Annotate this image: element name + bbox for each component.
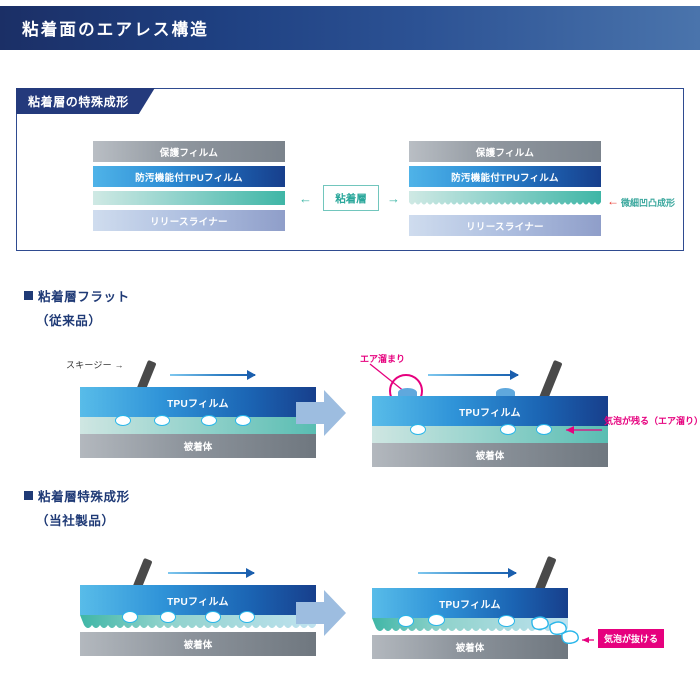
air-bubble <box>398 615 414 627</box>
air-bubble <box>235 415 251 426</box>
air-bubble <box>239 611 255 623</box>
section-special-subheading: （当社製品） <box>36 510 115 529</box>
process-arrow-icon <box>296 590 346 636</box>
layer-protect-film: 保護フィルム <box>93 141 285 162</box>
bullet-square-icon <box>24 291 33 300</box>
layer-adhesive-flat <box>93 191 285 205</box>
escaping-bubbles-icon <box>520 606 600 656</box>
layer-adhesive-textured <box>409 191 601 210</box>
process-arrow-icon <box>296 390 346 436</box>
red-arrow-icon: ← <box>607 195 619 207</box>
layer-protect-film: 保護フィルム <box>409 141 601 162</box>
panel-special-forming: 粘着層の特殊成形 保護フィルム 防汚機能付TPUフィルム リリースライナー ← … <box>16 88 684 251</box>
tpu-film-band: TPUフィルム <box>80 585 316 615</box>
layer-group-textured: TPUフィルム 被着体 <box>80 585 316 656</box>
air-bubble <box>536 424 552 435</box>
flow-arrow-icon <box>168 572 254 574</box>
section-special-heading-text: 粘着層特殊成形 <box>38 486 130 505</box>
air-bubble <box>201 415 217 426</box>
layer-stack-flat: 保護フィルム 防汚機能付TPUフィルム リリースライナー <box>93 141 285 235</box>
air-bubble <box>498 615 515 627</box>
flow-arrow-icon <box>170 374 255 376</box>
arrow-left-icon: ← <box>299 192 312 205</box>
page-root: 粘着面のエアレス構造 粘着層の特殊成形 保護フィルム 防汚機能付TPUフィルム … <box>0 0 700 700</box>
air-bubble <box>122 611 138 623</box>
substrate-band: 被着体 <box>80 434 316 458</box>
air-bubble <box>205 611 221 623</box>
air-bubble <box>160 611 176 623</box>
arrow-right-icon: → <box>387 192 400 205</box>
bubbles-escape-label: 気泡が抜ける <box>598 629 664 648</box>
page-title: 粘着面のエアレス構造 <box>0 16 209 40</box>
section-flat-heading: 粘着層フラット <box>24 286 130 305</box>
air-bubble <box>500 424 516 435</box>
flow-arrow-icon <box>428 374 518 376</box>
flow-arrow-icon <box>418 572 516 574</box>
adhesive-layer-caption: 粘着層 <box>323 185 379 211</box>
squeegee-label: スキージー → <box>66 358 124 371</box>
air-bubble <box>115 415 131 426</box>
bubbles-remain-label: 気泡が残る（エア溜り） <box>604 414 700 427</box>
tpu-film-band: TPUフィルム <box>80 387 316 417</box>
adhesive-band-textured <box>80 615 316 632</box>
substrate-band: 被着体 <box>372 443 608 467</box>
layer-tpu-film: 防汚機能付TPUフィルム <box>409 166 601 187</box>
bubbles-remain-leader <box>552 420 602 440</box>
layer-stack-textured: 保護フィルム 防汚機能付TPUフィルム リリースライナー <box>409 141 601 240</box>
panel-tab-label: 粘着層の特殊成形 <box>16 88 155 114</box>
layer-release-liner: リリースライナー <box>93 210 285 231</box>
section-flat-subheading: （従来品） <box>36 310 102 329</box>
air-bubble <box>428 614 445 626</box>
bullet-square-icon <box>24 491 33 500</box>
layer-tpu-film: 防汚機能付TPUフィルム <box>93 166 285 187</box>
page-header: 粘着面のエアレス構造 <box>0 6 700 50</box>
air-bubble <box>410 424 426 435</box>
air-bubble <box>154 415 170 426</box>
texture-note-label: 微細凹凸成形 <box>621 196 675 209</box>
section-special-heading: 粘着層特殊成形 <box>24 486 130 505</box>
layer-release-liner: リリースライナー <box>409 215 601 236</box>
substrate-band: 被着体 <box>80 632 316 656</box>
section-flat-heading-text: 粘着層フラット <box>38 286 130 305</box>
